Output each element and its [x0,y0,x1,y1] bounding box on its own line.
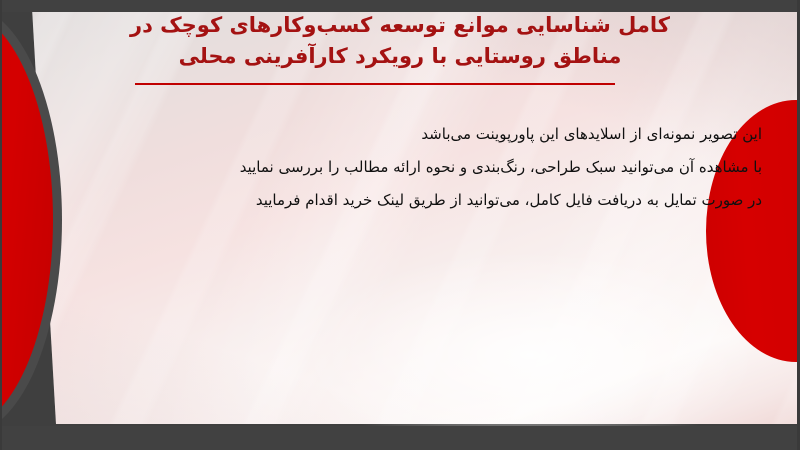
slide-title: کامل شناسایی موانع توسعه کسب‌وکارهای کوچ… [0,10,800,72]
frame-edge-left [0,0,2,450]
body-line-3: در صورت تمایل به دریافت فایل کامل، می‌تو… [122,184,762,217]
title-line-1: کامل شناسایی موانع توسعه کسب‌وکارهای کوچ… [0,10,800,41]
slide-canvas: کامل شناسایی موانع توسعه کسب‌وکارهای کوچ… [0,0,800,450]
body-line-2: با مشاهده آن می‌توانید سبک طراحی، رنگ‌بن… [122,151,762,184]
slide-body-text: این تصویر نمونه‌ای از اسلایدهای این پاور… [122,118,762,217]
body-line-1: این تصویر نمونه‌ای از اسلایدهای این پاور… [122,118,762,151]
frame-band-bottom [0,426,800,450]
title-line-2: مناطق روستایی با رویکرد کارآفرینی محلی [0,41,800,72]
title-underline-rule [135,83,615,85]
